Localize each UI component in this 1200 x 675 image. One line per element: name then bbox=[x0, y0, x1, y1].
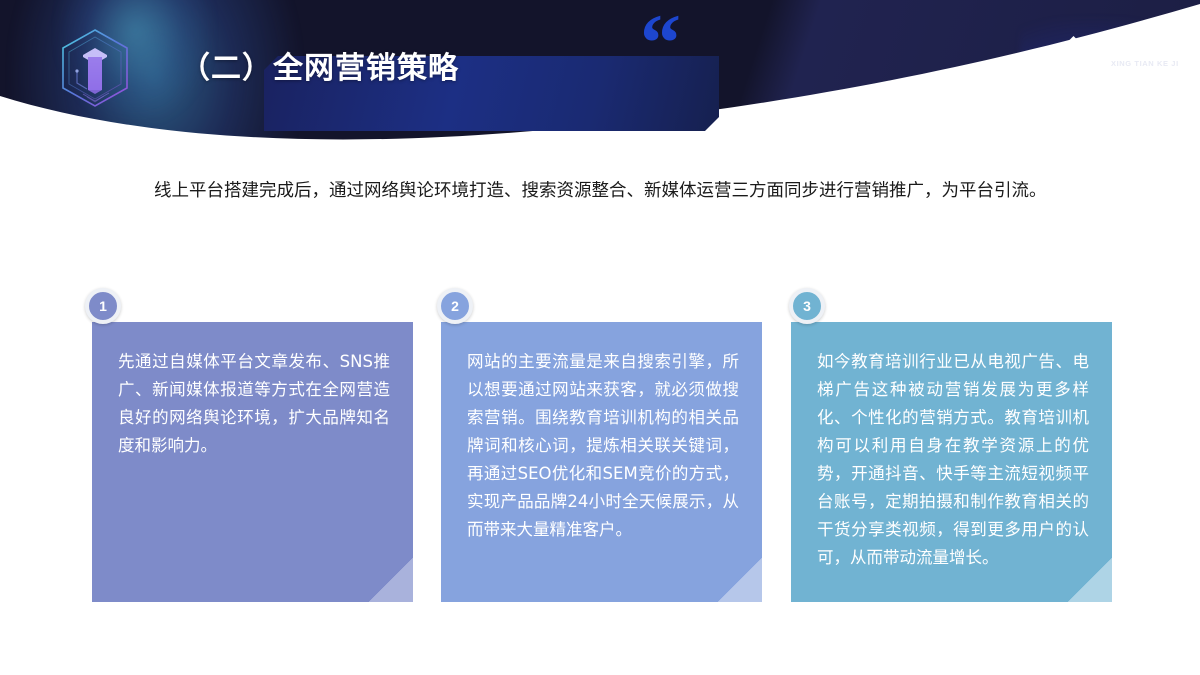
card-badge-3: 3 bbox=[789, 288, 825, 324]
strategy-card-3[interactable]: 如今教育培训行业已从电视广告、电梯广告这种被动营销发展为更多样化、个性化的营销方… bbox=[791, 322, 1112, 602]
strategy-cards: 先通过自媒体平台文章发布、SNS推广、新闻媒体报道等方式在全网营造良好的网络舆论… bbox=[0, 0, 1200, 675]
card-text-3: 如今教育培训行业已从电视广告、电梯广告这种被动营销发展为更多样化、个性化的营销方… bbox=[817, 348, 1089, 572]
card-badge-2: 2 bbox=[437, 288, 473, 324]
card-badge-1: 1 bbox=[85, 288, 121, 324]
strategy-card-1[interactable]: 先通过自媒体平台文章发布、SNS推广、新闻媒体报道等方式在全网营造良好的网络舆论… bbox=[92, 322, 413, 602]
card-text-1: 先通过自媒体平台文章发布、SNS推广、新闻媒体报道等方式在全网营造良好的网络舆论… bbox=[118, 348, 390, 460]
card-text-2: 网站的主要流量是来自搜索引擎，所以想要通过网站来获客，就必须做搜索营销。围绕教育… bbox=[467, 348, 739, 544]
strategy-card-2[interactable]: 网站的主要流量是来自搜索引擎，所以想要通过网站来获客，就必须做搜索营销。围绕教育… bbox=[441, 322, 762, 602]
